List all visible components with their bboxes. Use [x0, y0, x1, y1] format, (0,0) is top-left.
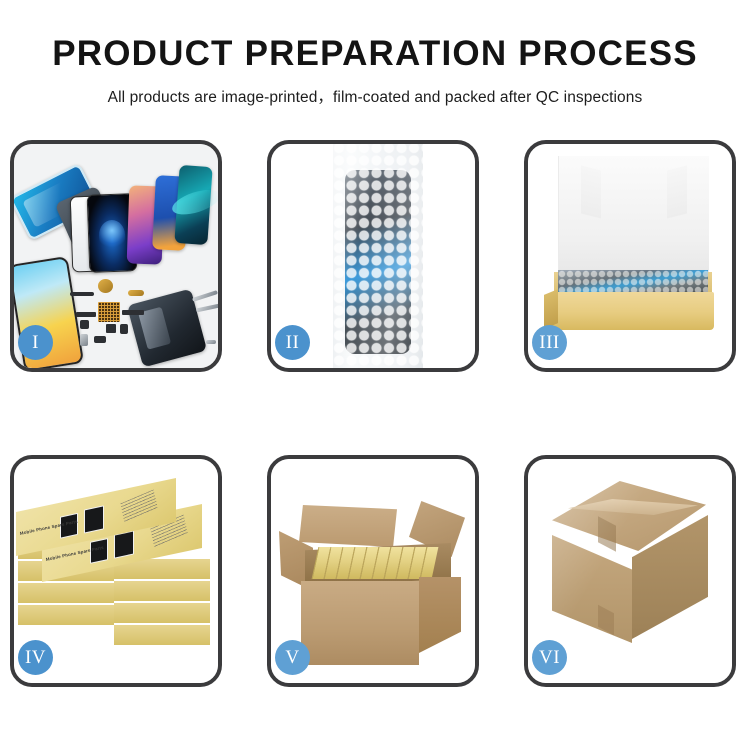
- flex-cable-2-icon: [76, 312, 96, 317]
- retail-box-side-r3: [114, 581, 210, 601]
- retail-box-side-4: [18, 583, 114, 603]
- page-subtitle: All products are image-printed，film-coat…: [0, 85, 750, 107]
- vibrator-icon: [120, 324, 128, 334]
- step-panel-2: II: [267, 140, 479, 372]
- carton-flap-back-left: [299, 505, 397, 547]
- retail-box-side-r5: [114, 625, 210, 645]
- teal-phone-icon: [174, 165, 212, 245]
- page-title: PRODUCT PREPARATION PROCESS: [0, 36, 750, 71]
- wrapped-product-icon: [558, 270, 708, 292]
- box-tray-left: [544, 289, 558, 329]
- battery-connector-icon: [106, 324, 116, 333]
- sim-tray-icon: [80, 334, 88, 346]
- step-panel-1: I: [10, 140, 222, 372]
- box-thumb-4: [114, 530, 134, 558]
- retail-box-side-r4: [114, 603, 210, 623]
- steps-grid: I II III: [10, 140, 740, 687]
- bubble-wrap-sleeve: [333, 144, 423, 368]
- camera-module-icon: [80, 320, 89, 329]
- box-tray-front: [552, 292, 714, 330]
- foam-lid-icon: [558, 156, 709, 276]
- box-spec-lines-1: [120, 489, 157, 522]
- retail-box-side-5: [18, 605, 114, 625]
- plastic-sheen: [333, 144, 423, 368]
- step-badge-3: III: [532, 325, 567, 360]
- button-flex-icon: [94, 336, 106, 343]
- foam-flap-right: [667, 166, 687, 219]
- speaker-mesh-icon: [98, 279, 113, 293]
- box-thumb-2: [84, 505, 104, 533]
- step-badge-2: II: [275, 325, 310, 360]
- carton-contents: [315, 547, 441, 579]
- step-badge-5: V: [275, 640, 310, 675]
- step-panel-5: V: [267, 455, 479, 687]
- step-badge-4: IV: [18, 640, 53, 675]
- chip-grid-icon: [98, 302, 120, 322]
- flex-cable-icon: [128, 290, 144, 296]
- carton-front-face: [301, 581, 419, 665]
- earpiece-strip-icon: [70, 292, 94, 296]
- foam-flap-left: [581, 166, 601, 219]
- header: PRODUCT PREPARATION PROCESS All products…: [0, 0, 750, 107]
- step-panel-3: III: [524, 140, 736, 372]
- step-panel-4: Mobile Phone Spare Parts Mobile Phone Sp…: [10, 455, 222, 687]
- step-badge-6: VI: [532, 640, 567, 675]
- screw-set-icon: [206, 340, 216, 344]
- step-panel-6: VI: [524, 455, 736, 687]
- flex-cable-3-icon: [122, 310, 144, 315]
- step-badge-1: I: [18, 325, 53, 360]
